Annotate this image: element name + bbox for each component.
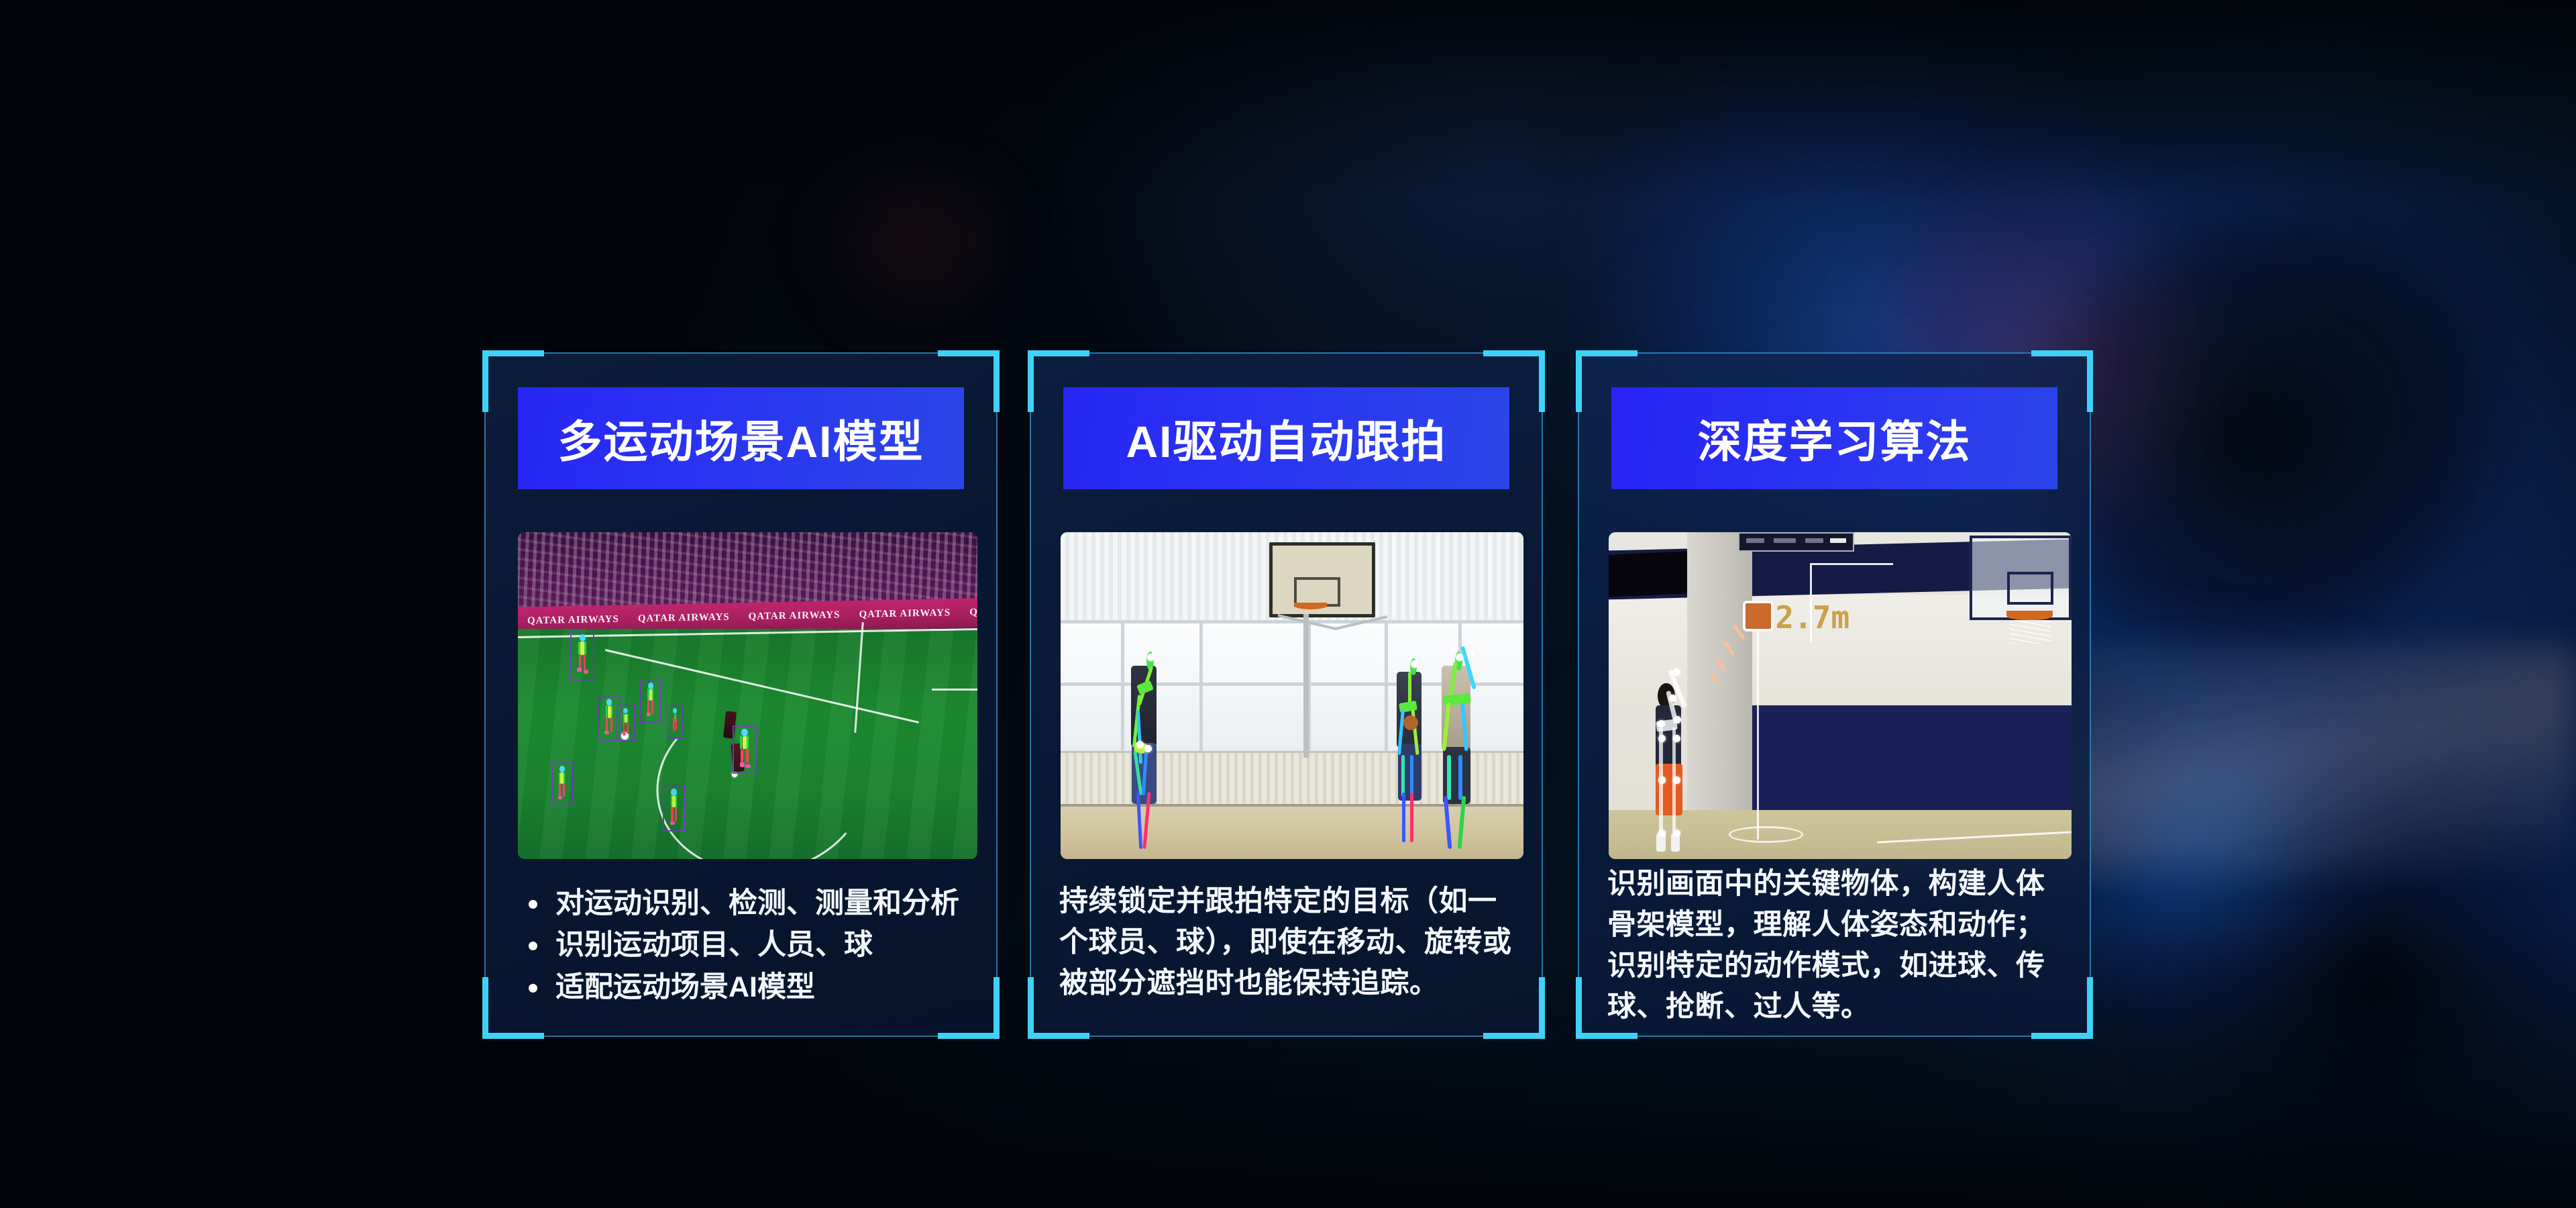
card-description: 持续锁定并跟拍特定的目标（如一个球员、球），即使在移动、旋转或被部分遮挡时也能保… xyxy=(1059,881,1520,1004)
list-item: 适配运动场景AI模型 xyxy=(519,966,971,1008)
ad-text: QATAR AIRWAYS xyxy=(629,611,739,625)
detection-box xyxy=(616,705,636,742)
opponent-player xyxy=(731,744,745,772)
landing-ellipse xyxy=(1729,826,1803,842)
window-frame xyxy=(1061,620,1523,623)
card-body: 对运动识别、检测、测量和分析 识别运动项目、人员、球 适配运动场景AI模型 xyxy=(519,883,971,1008)
distance-label: 2.7m xyxy=(1775,599,1849,636)
hoop-net xyxy=(2009,620,2051,643)
list-item: 识别运动项目、人员、球 xyxy=(519,924,971,966)
card-media-soccer-detection: QATAR AIRWAYS QATAR AIRWAYS QATAR AIRWAY… xyxy=(518,532,977,859)
window-frame xyxy=(1199,620,1203,758)
player-pose-right xyxy=(1426,650,1491,852)
pose-skeleton xyxy=(554,765,570,803)
feature-card-deep-learning-algorithm[interactable]: 深度学习算法 xyxy=(1578,352,2091,1037)
pose-skeleton xyxy=(601,698,618,739)
feature-card-multi-sport-ai-model[interactable]: 多运动场景AI模型 QATAR AIRWAYS QATAR AIRWAYS QA… xyxy=(484,352,998,1037)
center-circle xyxy=(645,684,878,859)
ball xyxy=(732,772,737,777)
player-pose-shooter xyxy=(1641,676,1706,859)
gym-scene xyxy=(1061,532,1523,859)
detection-box xyxy=(733,725,757,774)
card-body: 识别画面中的关键物体，构建人体骨架模型，理解人体姿态和动作；识别特定的动作模式，… xyxy=(1607,864,2071,1027)
backboard xyxy=(1970,536,2072,621)
wall-navy-pad xyxy=(1752,705,2072,810)
card-media-gym-pose-estimation xyxy=(1061,532,1523,859)
measurement-vertical-line xyxy=(1757,611,1759,840)
feature-bullet-list: 对运动识别、检测、测量和分析 识别运动项目、人员、球 适配运动场景AI模型 xyxy=(519,883,971,1008)
detection-box xyxy=(551,762,573,806)
backboard-square xyxy=(2007,572,2053,605)
opponent-player xyxy=(723,711,737,739)
player-pose-left xyxy=(1121,650,1177,852)
ad-text: QATAR AIRWAYS xyxy=(960,605,977,619)
ball xyxy=(621,732,629,740)
ball-tracking-box xyxy=(1743,601,1774,632)
card-media-shot-tracking: 2.7m xyxy=(1609,532,2072,859)
card-description: 识别画面中的关键物体，构建人体骨架模型，理解人体姿态和动作；识别特定的动作模式，… xyxy=(1607,864,2071,1027)
pose-skeleton xyxy=(573,634,592,679)
basketball xyxy=(1403,715,1418,730)
detection-box xyxy=(640,679,661,723)
pose-skeleton xyxy=(665,788,682,829)
list-item: 对运动识别、检测、测量和分析 xyxy=(519,883,971,924)
detection-box xyxy=(598,695,621,742)
pose-skeleton xyxy=(735,728,754,771)
card-body: 持续锁定并跟拍特定的目标（如一个球员、球），即使在移动、旋转或被部分遮挡时也能保… xyxy=(1059,881,1520,1004)
stadium-crowd xyxy=(518,532,977,607)
ad-text: QATAR AIRWAYS xyxy=(739,609,850,623)
hoop-pole xyxy=(1303,614,1309,758)
pitch-line xyxy=(932,689,978,691)
pose-skeleton xyxy=(619,707,633,739)
detection-box xyxy=(667,705,684,739)
pitch xyxy=(518,629,977,859)
ad-text: QATAR AIRWAYS xyxy=(518,614,629,627)
pitch-line xyxy=(605,649,919,723)
card-title-banner: 多运动场景AI模型 xyxy=(518,387,964,489)
goal-line xyxy=(854,622,863,733)
scoreboard xyxy=(1738,532,1854,552)
pitch-line xyxy=(518,628,977,638)
ad-text: QATAR AIRWAYS xyxy=(849,607,960,621)
detection-box xyxy=(663,785,685,832)
card-title-banner: AI驱动自动跟拍 xyxy=(1063,387,1509,489)
feature-card-ai-auto-tracking[interactable]: AI驱动自动跟拍 xyxy=(1030,352,1543,1037)
pose-skeleton xyxy=(643,682,659,720)
detection-box xyxy=(570,631,594,682)
feature-cards: 多运动场景AI模型 QATAR AIRWAYS QATAR AIRWAYS QA… xyxy=(0,0,2576,1208)
court-scene: 2.7m xyxy=(1609,532,2072,859)
card-title-banner: 深度学习算法 xyxy=(1611,387,2057,489)
soccer-scene: QATAR AIRWAYS QATAR AIRWAYS QATAR AIRWAY… xyxy=(518,532,977,859)
pose-skeleton xyxy=(669,707,681,736)
